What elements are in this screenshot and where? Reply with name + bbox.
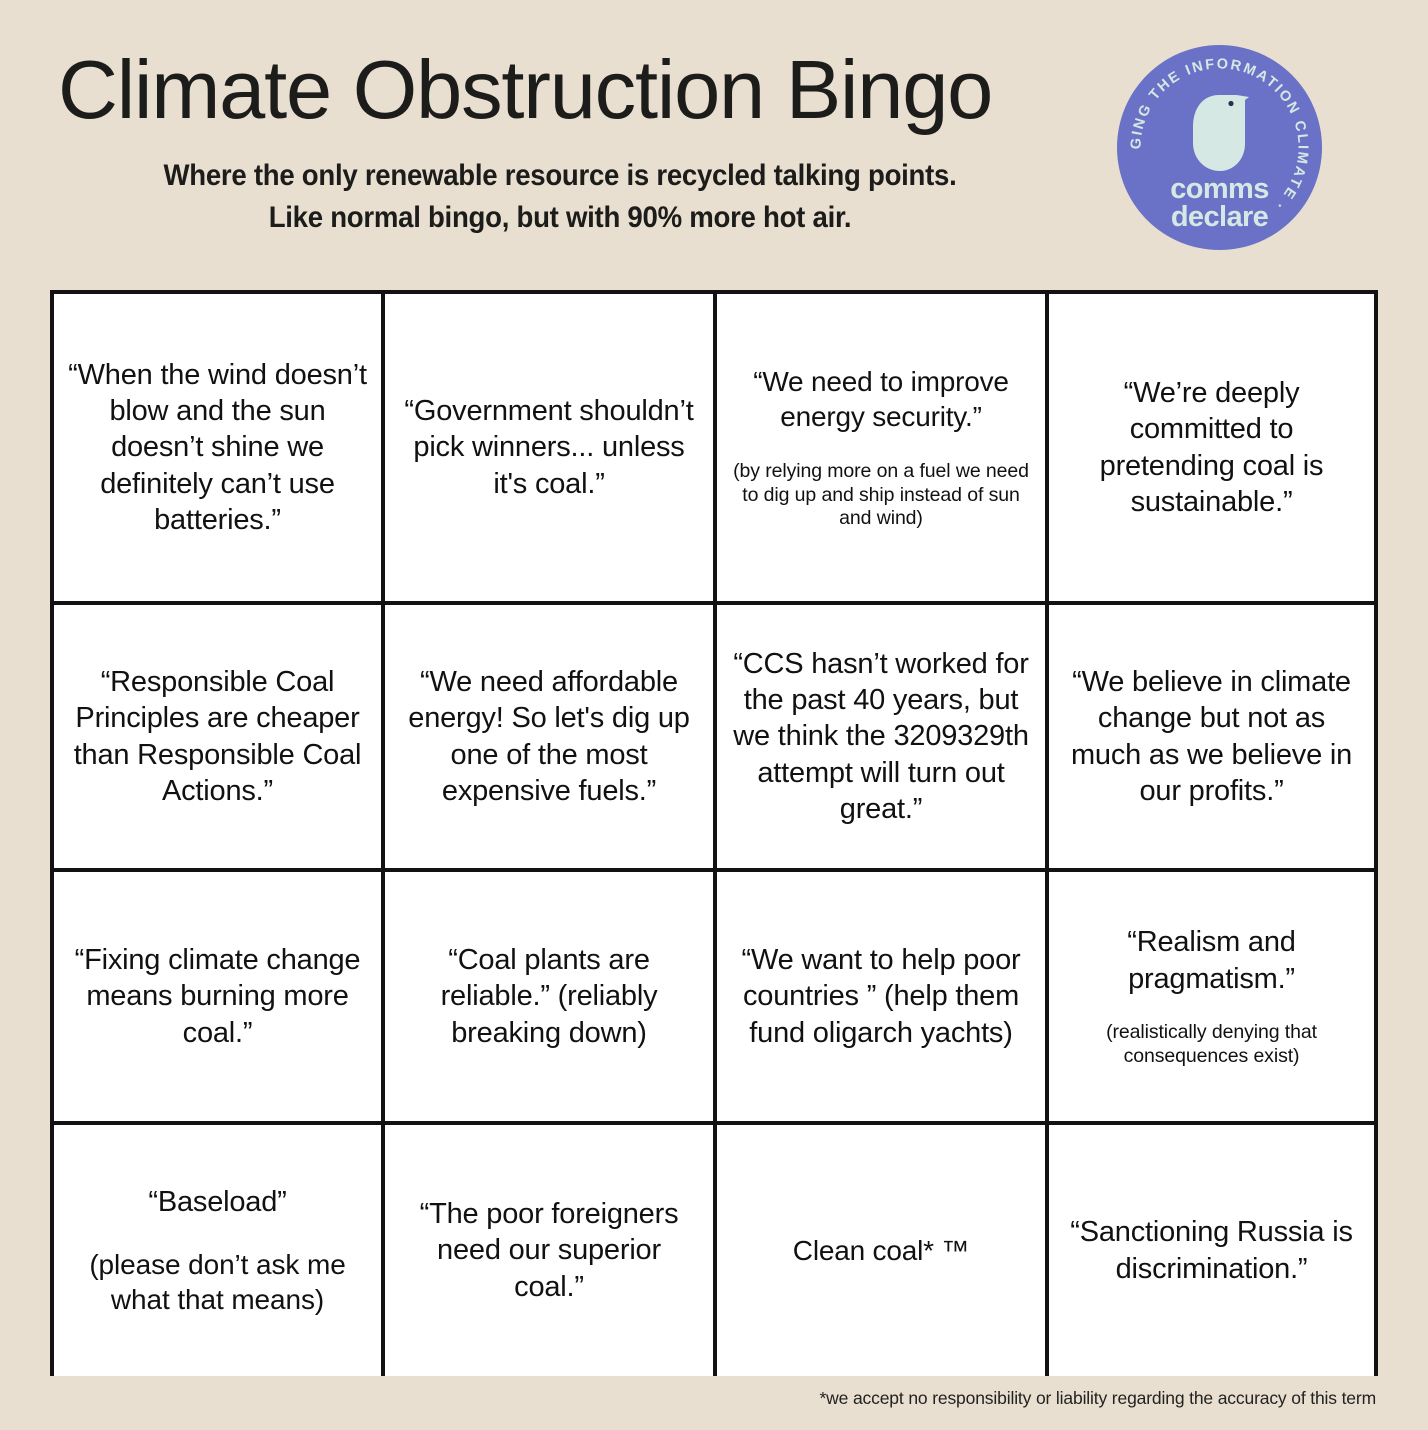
bingo-cell-main-text: “We want to help poor countries ” (help … — [731, 942, 1031, 1051]
subtitle-block: Where the only renewable resource is rec… — [70, 155, 1050, 239]
bingo-cell-main-text: Clean coal* ™ — [793, 1233, 969, 1268]
bingo-grid: “When the wind doesn’t blow and the sun … — [50, 290, 1378, 1376]
bingo-cell-r4c3[interactable]: Clean coal* ™ — [717, 1125, 1049, 1376]
comms-declare-logo[interactable]: · CHANGING THE INFORMATION CLIMATE · com… — [1117, 45, 1322, 250]
bingo-cell-main-text: “We’re deeply committed to pretending co… — [1063, 375, 1360, 520]
bingo-cell-r3c3[interactable]: “We want to help poor countries ” (help … — [717, 872, 1049, 1125]
bingo-cell-main-text: “Fixing climate change means burning mor… — [68, 942, 367, 1051]
bingo-cell-r3c4[interactable]: “Realism and pragmatism.” (realistically… — [1049, 872, 1374, 1125]
bingo-cell-r4c1[interactable]: “Baseload” (please don’t ask me what tha… — [54, 1125, 385, 1376]
logo-wordmark-line-1: comms — [1117, 175, 1322, 203]
bird-icon — [1189, 87, 1251, 175]
logo-wordmark: comms declare — [1117, 175, 1322, 231]
bingo-cell-main-text: “CCS hasn’t worked for the past 40 years… — [731, 646, 1031, 827]
page-title: Climate Obstruction Bingo — [58, 48, 1058, 131]
bingo-cell-r3c2[interactable]: “Coal plants are reliable.” (reliably br… — [385, 872, 717, 1125]
bingo-cell-main-text: “We believe in climate change but not as… — [1063, 664, 1360, 809]
bingo-cell-main-text: “We need affordable energy! So let's dig… — [399, 664, 699, 809]
subtitle-line-1: Where the only renewable resource is rec… — [109, 155, 1011, 197]
bingo-cell-r1c1[interactable]: “When the wind doesn’t blow and the sun … — [54, 294, 385, 605]
bingo-cell-r4c2[interactable]: “The poor foreigners need our superior c… — [385, 1125, 717, 1376]
bingo-cell-main-text: “Sanctioning Russia is discrimination.” — [1063, 1214, 1360, 1287]
bingo-cell-r2c1[interactable]: “Responsible Coal Principles are cheaper… — [54, 605, 385, 872]
bingo-cell-r4c4[interactable]: “Sanctioning Russia is discrimination.” — [1049, 1125, 1374, 1376]
bingo-cell-main-text: “Government shouldn’t pick winners... un… — [399, 393, 699, 502]
bingo-cell-r2c4[interactable]: “We believe in climate change but not as… — [1049, 605, 1374, 872]
bingo-cell-r1c4[interactable]: “We’re deeply committed to pretending co… — [1049, 294, 1374, 605]
footer-disclaimer: *we accept no responsibility or liabilit… — [0, 1388, 1378, 1409]
bingo-cell-main-text: “We need to improve energy security.” — [731, 364, 1031, 434]
bingo-cell-r1c3[interactable]: “We need to improve energy security.” (b… — [717, 294, 1049, 605]
bingo-cell-r2c3[interactable]: “CCS hasn’t worked for the past 40 years… — [717, 605, 1049, 872]
bingo-cell-main-text: “Baseload” — [148, 1184, 286, 1220]
bingo-cell-main-text: “Coal plants are reliable.” (reliably br… — [399, 942, 699, 1051]
bingo-cell-r2c2[interactable]: “We need affordable energy! So let's dig… — [385, 605, 717, 872]
bingo-cell-main-text: “When the wind doesn’t blow and the sun … — [68, 357, 367, 538]
bingo-cell-sub-text: (realistically denying that consequences… — [1063, 1021, 1360, 1069]
logo-wordmark-line-2: declare — [1117, 203, 1322, 231]
bingo-cell-main-text: “Realism and pragmatism.” — [1063, 924, 1360, 997]
title-block: Climate Obstruction Bingo Where the only… — [58, 48, 1058, 239]
bingo-cell-sub-text: (please don’t ask me what that means) — [68, 1247, 367, 1317]
bingo-cell-r3c1[interactable]: “Fixing climate change means burning mor… — [54, 872, 385, 1125]
bingo-cell-main-text: “Responsible Coal Principles are cheaper… — [68, 664, 367, 809]
bingo-cell-r1c2[interactable]: “Government shouldn’t pick winners... un… — [385, 294, 717, 605]
bingo-cell-sub-text: (by relying more on a fuel we need to di… — [731, 460, 1031, 531]
subtitle-line-2: Like normal bingo, but with 90% more hot… — [109, 197, 1011, 239]
header: Climate Obstruction Bingo Where the only… — [0, 0, 1428, 280]
bingo-cell-main-text: “The poor foreigners need our superior c… — [399, 1196, 699, 1305]
